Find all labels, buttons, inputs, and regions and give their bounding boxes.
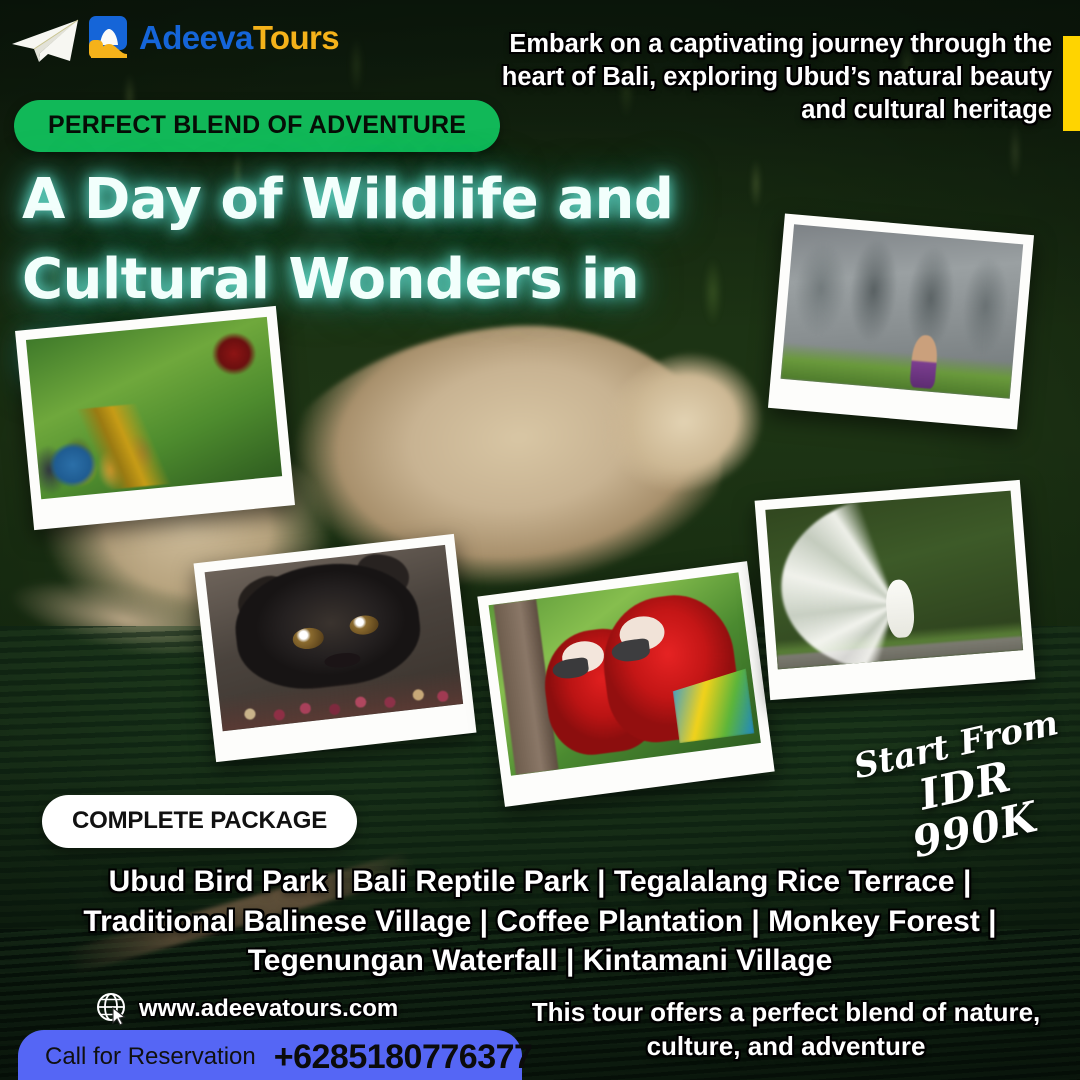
closing-line-2: culture, and adventure: [512, 1030, 1060, 1064]
photo-scarlet-macaws-image: [489, 572, 761, 775]
badge-perfect-blend-of-adventure: PERFECT BLEND OF ADVENTURE: [14, 100, 500, 152]
photo-white-peacock-image: [765, 491, 1023, 670]
badge-complete-package: COMPLETE PACKAGE: [42, 795, 357, 848]
photo-bird-park-macaw-show-image: [26, 317, 282, 499]
website-url: www.adeevatours.com: [139, 995, 398, 1023]
website-link[interactable]: www.adeevatours.com: [95, 992, 398, 1026]
intro-line-1: Embark on a captivating journey through …: [467, 28, 1052, 61]
paper-plane-icon: [8, 18, 80, 64]
photo-bird-park-macaw-show: [15, 306, 295, 530]
photo-scarlet-macaws: [477, 561, 774, 807]
brand-name-part1: Adeeva: [139, 19, 253, 56]
itinerary-list: Ubud Bird Park | Bali Reptile Park | Teg…: [0, 862, 1080, 981]
closing-line-1: This tour offers a perfect blend of natu…: [512, 996, 1060, 1030]
photo-gunung-kawi-temple-image: [781, 224, 1024, 398]
call-label: Call for Reservation: [45, 1043, 256, 1071]
photo-red-macaw-flying: [180, 320, 268, 392]
photo-luwak-civet-coffee-image: [205, 545, 464, 731]
intro-line-3: and cultural heritage: [467, 94, 1052, 127]
itinerary-line-1: Ubud Bird Park | Bali Reptile Park | Teg…: [0, 862, 1080, 902]
photo-luwak-civet-coffee: [194, 534, 477, 762]
brand-name-part2: Tours: [253, 19, 339, 56]
globe-cursor-icon: [95, 992, 129, 1026]
brand-name: AdeevaTours: [139, 21, 339, 54]
intro-paragraph: Embark on a captivating journey through …: [467, 28, 1052, 127]
mountain-logo-icon: [86, 14, 132, 60]
call-for-reservation-bar[interactable]: Call for Reservation +6285180776377: [18, 1030, 522, 1080]
page-title-line-1: A Day of Wildlife and: [22, 167, 673, 232]
itinerary-line-3: Tegenungan Waterfall | Kintamani Village: [0, 941, 1080, 981]
tour-promo-poster: AdeevaTours Embark on a captivating jour…: [0, 0, 1080, 1080]
photo-white-peacock: [755, 480, 1036, 700]
photo-gunung-kawi-temple: [768, 213, 1034, 429]
photo-blue-gold-macaw: [38, 400, 181, 496]
yellow-accent-bar: [1063, 36, 1080, 131]
phone-number[interactable]: +6285180776377: [274, 1038, 533, 1077]
closing-statement: This tour offers a perfect blend of natu…: [512, 996, 1060, 1064]
intro-line-2: heart of Bali, exploring Ubud’s natural …: [467, 61, 1052, 94]
brand-logo[interactable]: AdeevaTours: [86, 14, 339, 60]
itinerary-line-2: Traditional Balinese Village | Coffee Pl…: [0, 902, 1080, 942]
